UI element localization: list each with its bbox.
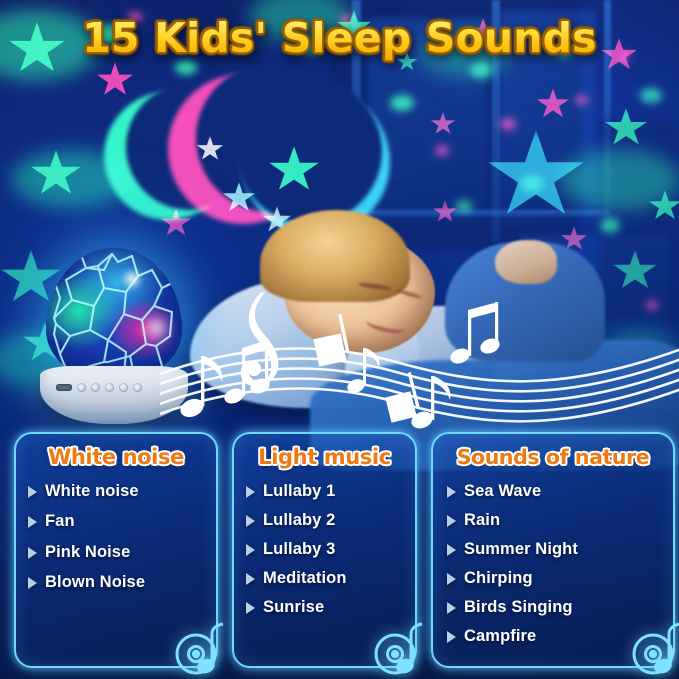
triangle-bullet-icon: [28, 516, 37, 528]
triangle-bullet-icon: [447, 544, 456, 556]
list-item[interactable]: Lullaby 3: [246, 540, 407, 559]
product-marketing-image: 15 Kids' Sleep Sounds: [0, 0, 679, 679]
control-button[interactable]: [77, 383, 86, 392]
list-item[interactable]: Lullaby 2: [246, 511, 407, 530]
triangle-bullet-icon: [246, 486, 255, 498]
list-item-label: Meditation: [263, 569, 347, 588]
triangle-bullet-icon: [447, 515, 456, 527]
list-item-label: Birds Singing: [464, 598, 573, 617]
list-item[interactable]: Chirping: [447, 569, 665, 588]
panel-light-music[interactable]: Light music Lullaby 1 Lullaby 2 Lullaby …: [232, 432, 417, 668]
triangle-bullet-icon: [447, 631, 456, 643]
panel-sounds-of-nature[interactable]: Sounds of nature Sea Wave Rain Summer Ni…: [431, 432, 675, 668]
panel-heading-white-noise: White noise: [16, 445, 216, 469]
list-item-label: Summer Night: [464, 540, 578, 559]
control-button[interactable]: [91, 383, 100, 392]
sleeping-child-scene: [190, 210, 679, 440]
list-item-label: Lullaby 2: [263, 511, 335, 530]
list-item[interactable]: Fan: [28, 512, 208, 531]
triangle-bullet-icon: [447, 486, 456, 498]
panel-heading-sounds-of-nature: Sounds of nature: [433, 445, 673, 469]
music-disc-icon: [168, 616, 232, 679]
list-item-label: Campfire: [464, 627, 536, 646]
sound-category-panels: White noise White noise Fan Pink Noise B…: [0, 430, 679, 679]
panel-white-noise[interactable]: White noise White noise Fan Pink Noise B…: [14, 432, 218, 668]
control-button[interactable]: [119, 383, 128, 392]
sound-list-white-noise: White noise Fan Pink Noise Blown Noise: [28, 482, 208, 604]
projector-dome: [46, 248, 182, 380]
control-button[interactable]: [105, 383, 114, 392]
control-button[interactable]: [133, 383, 142, 392]
music-disc-icon: [367, 616, 431, 679]
list-item-label: Lullaby 3: [263, 540, 335, 559]
list-item-label: Rain: [464, 511, 500, 530]
list-item-label: Sunrise: [263, 598, 324, 617]
list-item[interactable]: Meditation: [246, 569, 407, 588]
triangle-bullet-icon: [28, 486, 37, 498]
list-item-label: Lullaby 1: [263, 482, 335, 501]
list-item-label: Blown Noise: [45, 573, 145, 592]
list-item-label: Chirping: [464, 569, 533, 588]
star-projector-lamp: [34, 248, 194, 426]
list-item-label: White noise: [45, 482, 139, 501]
list-item-label: Fan: [45, 512, 75, 531]
triangle-bullet-icon: [28, 577, 37, 589]
list-item[interactable]: Summer Night: [447, 540, 665, 559]
triangle-bullet-icon: [246, 573, 255, 585]
triangle-bullet-icon: [447, 573, 456, 585]
triangle-bullet-icon: [447, 602, 456, 614]
page-title: 15 Kids' Sleep Sounds: [82, 14, 597, 62]
list-item[interactable]: Sea Wave: [447, 482, 665, 501]
list-item[interactable]: Birds Singing: [447, 598, 665, 617]
list-item[interactable]: Sunrise: [246, 598, 407, 617]
panel-heading-light-music: Light music: [234, 445, 415, 469]
sound-list-light-music: Lullaby 1 Lullaby 2 Lullaby 3 Meditation…: [246, 482, 407, 627]
list-item[interactable]: Pink Noise: [28, 543, 208, 562]
triangle-bullet-icon: [246, 515, 255, 527]
list-item-label: Pink Noise: [45, 543, 130, 562]
list-item[interactable]: Rain: [447, 511, 665, 530]
triangle-bullet-icon: [246, 544, 255, 556]
list-item[interactable]: Lullaby 1: [246, 482, 407, 501]
headline-banner: 15 Kids' Sleep Sounds: [0, 14, 679, 62]
triangle-bullet-icon: [246, 602, 255, 614]
list-item[interactable]: White noise: [28, 482, 208, 501]
usb-port: [56, 384, 72, 391]
list-item[interactable]: Blown Noise: [28, 573, 208, 592]
triangle-bullet-icon: [28, 547, 37, 559]
list-item-label: Sea Wave: [464, 482, 541, 501]
music-disc-icon: [625, 616, 679, 679]
